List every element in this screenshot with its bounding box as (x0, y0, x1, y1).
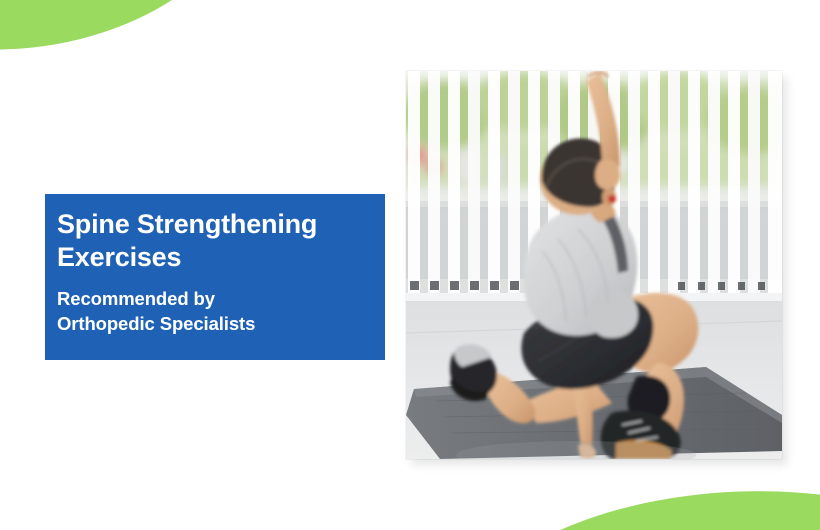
page-title: Spine Strengthening Exercises (57, 208, 369, 274)
headline-block: Spine Strengthening Exercises Recommende… (45, 194, 385, 360)
promo-banner: Spine Strengthening Exercises Recommende… (0, 0, 820, 530)
hero-photo (406, 71, 782, 459)
hero-photo-illustration (406, 71, 782, 459)
page-subtitle: Recommended by Orthopedic Specialists (57, 286, 369, 336)
green-wave-bottom-right-icon (447, 476, 820, 530)
green-wave-top-left-icon (0, 0, 276, 74)
